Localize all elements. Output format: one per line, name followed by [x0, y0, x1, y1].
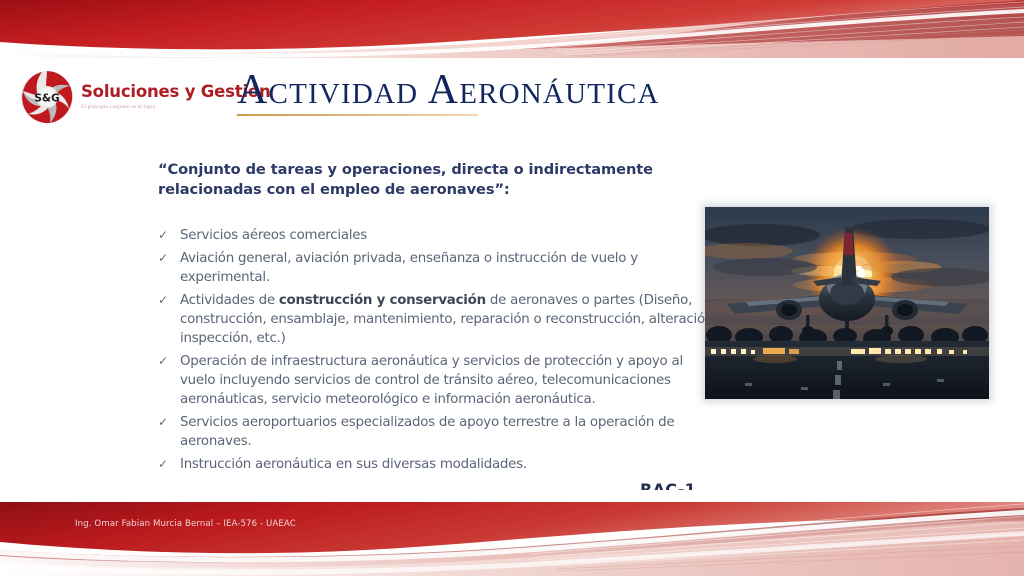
- svg-text:S&G: S&G: [34, 93, 59, 105]
- airplane-landing-sunset-photo: [705, 207, 989, 399]
- title-underline-rule: [237, 114, 478, 116]
- title-block: Actividad Aeronáutica: [237, 68, 757, 116]
- brand-logo-block: S&G Soluciones y Gestión El principio co…: [20, 70, 271, 124]
- top-decorative-banner: [0, 0, 1024, 58]
- list-item: ✓ Operación de infraestructura aeronáuti…: [158, 352, 718, 409]
- check-icon: ✓: [158, 226, 169, 244]
- check-icon: ✓: [158, 291, 169, 309]
- check-icon: ✓: [158, 249, 169, 267]
- list-item: ✓ Actividades de construcción y conserva…: [158, 291, 718, 348]
- list-item-text: Aviación general, aviación privada, ense…: [180, 249, 718, 287]
- bottom-decorative-banner: [0, 490, 1024, 576]
- footer-credit: Ing. Omar Fabian Murcia Bernal – IEA-576…: [75, 519, 296, 529]
- activity-bullet-list: ✓ Servicios aéreos comerciales ✓ Aviació…: [158, 226, 718, 478]
- presentation-slide: S&G Soluciones y Gestión El principio co…: [0, 0, 1024, 576]
- list-item: ✓ Servicios aéreos comerciales: [158, 226, 718, 245]
- page-title: Actividad Aeronáutica: [237, 68, 757, 112]
- list-item-text: Servicios aeroportuarios especializados …: [180, 413, 718, 451]
- sg-swirl-logo-icon: S&G: [20, 70, 74, 124]
- list-item: ✓ Aviación general, aviación privada, en…: [158, 249, 718, 287]
- list-item: ✓ Servicios aeroportuarios especializado…: [158, 413, 718, 451]
- check-icon: ✓: [158, 352, 169, 370]
- check-icon: ✓: [158, 413, 169, 431]
- list-item-text: Operación de infraestructura aeronáutica…: [180, 352, 718, 409]
- list-item: ✓ Instrucción aeronáutica en sus diversa…: [158, 455, 718, 474]
- list-item-text: Actividades de construcción y conservaci…: [180, 291, 718, 348]
- check-icon: ✓: [158, 455, 169, 473]
- definition-lead-text: “Conjunto de tareas y operaciones, direc…: [158, 160, 718, 199]
- list-item-text: Servicios aéreos comerciales: [180, 226, 367, 245]
- list-item-text: Instrucción aeronáutica en sus diversas …: [180, 455, 527, 474]
